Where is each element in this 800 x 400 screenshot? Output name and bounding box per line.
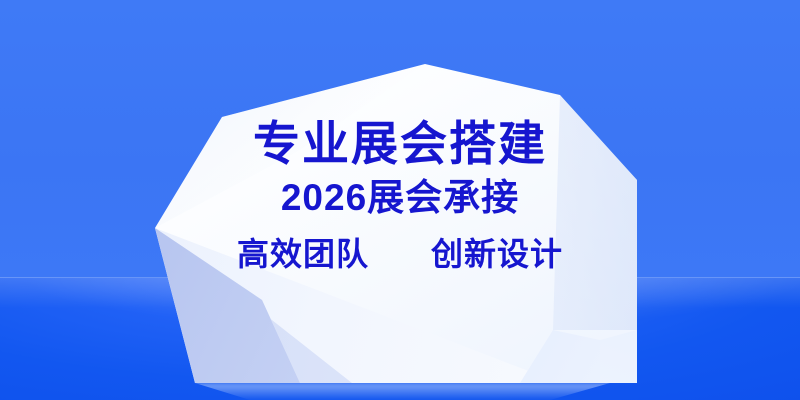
banner-canvas: 专业展会搭建 2026展会承接 高效团队 创新设计 [0, 0, 800, 400]
faceted-polygon-shape [0, 0, 800, 400]
